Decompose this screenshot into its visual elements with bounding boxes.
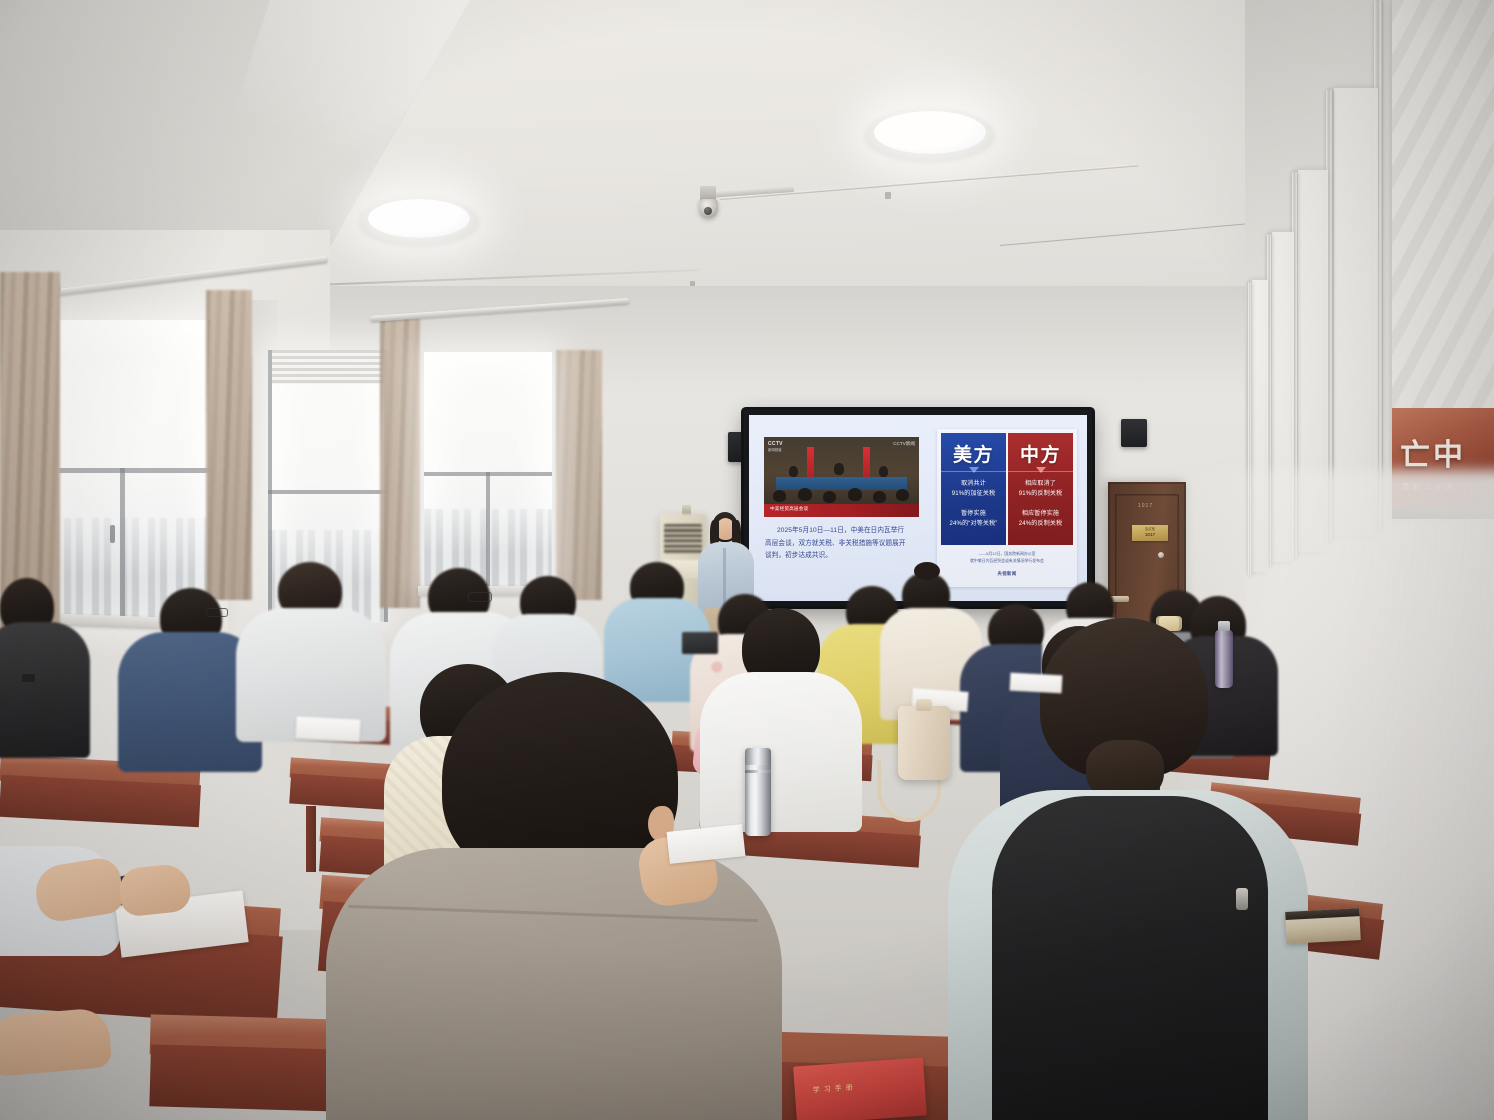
- curtain-mid: [206, 290, 252, 600]
- caption-line-1: 2025年5月10日—11日，中美在日内瓦举行: [777, 527, 904, 534]
- classroom-photo: CCTV 新闻频道 CCTV新闻 中美经贸高层会谈: [0, 0, 1494, 1120]
- red-booklet-text: 学习手册: [812, 1082, 857, 1095]
- door-nameplate: 会议室 1017: [1132, 525, 1168, 541]
- slide-caption: 2025年5月10日—11日，中美在日内瓦举行 高层会谈，双方就关税、非关税措施…: [765, 525, 961, 563]
- flag-icon: [807, 447, 814, 481]
- window-edge: [268, 350, 272, 622]
- camera-lens-icon: [704, 207, 712, 215]
- thermos-cap: [745, 748, 771, 765]
- curtain-far-right: [556, 350, 602, 600]
- footer-line-2: 就中美日内瓦经贸会谈有关情况举行发布会: [970, 558, 1044, 563]
- curtain-right: [380, 318, 420, 608]
- wristwatch-icon: [22, 674, 35, 682]
- window-blind: [272, 350, 384, 384]
- cn-line-3: 相应暂停实施: [1008, 510, 1073, 520]
- infographic-us-panel: 美方 取消共计 91%的加征关税 暂停实施 24%的“对等关税”: [941, 433, 1006, 545]
- handbag-handle: [916, 699, 932, 711]
- conduit-clip-1: [885, 192, 891, 199]
- podium-table: [776, 477, 906, 490]
- cn-title: 中方: [1008, 440, 1073, 467]
- ceiling-light-right: [874, 111, 986, 154]
- infographic-footer: ——5月12日，国务院新闻办公室 就中美日内瓦经贸会谈有关情况举行发布会: [943, 551, 1071, 565]
- desk-row2-left-leg: [306, 806, 316, 872]
- thermos-band: [745, 770, 771, 773]
- bottle-cap-icon: [1218, 621, 1230, 631]
- foreground-right-vest: [992, 796, 1268, 1120]
- audience-body-black-tee: [0, 622, 90, 758]
- us-line-3: 暂停实施: [941, 510, 1006, 520]
- audience-head: [823, 491, 836, 503]
- caption-line-2: 高层会谈，双方就关税、非关税措施等议题展开: [765, 540, 906, 547]
- ceiling-light-left: [368, 199, 470, 238]
- hair-bun-icon: [914, 562, 940, 580]
- window-handle[interactable]: [110, 525, 115, 543]
- window-mullion: [120, 468, 125, 620]
- audience-head: [873, 491, 886, 503]
- us-line-2: 91%的加征关税: [941, 490, 1006, 500]
- us-title: 美方: [941, 440, 1006, 467]
- news-band-text: 中美经贸高层会谈: [770, 506, 808, 512]
- infographic-divider-v: [1006, 471, 1007, 545]
- cn-line-4: 24%的反制关税: [1008, 520, 1073, 530]
- glasses-icon: [206, 608, 228, 617]
- panelist-head: [879, 466, 888, 477]
- cn-line-2: 91%的反制关税: [1008, 490, 1073, 500]
- foreground-hand-right: [118, 862, 193, 917]
- cctv-logo-sub: 新闻频道: [768, 447, 782, 452]
- poster-headline: 亡中: [1400, 430, 1466, 474]
- foreground-hand-bottom: [0, 1007, 112, 1077]
- infographic-brand: 央视新闻: [937, 571, 1077, 577]
- vest-zipper-pull-icon: [1236, 888, 1248, 910]
- door-plate-number: 1017: [1132, 532, 1168, 539]
- thermos-bottle[interactable]: [745, 748, 771, 836]
- news-lower-third: 中美经贸高层会谈: [764, 504, 919, 517]
- window-mullion: [486, 472, 490, 590]
- infographic-cn-panel: 中方 相应取消了 91%的反制关税 相应暂停实施 24%的反制关税: [1008, 433, 1073, 545]
- flag-icon: [863, 447, 870, 481]
- slide-news-photo: CCTV 新闻频道 CCTV新闻 中美经贸高层会谈: [764, 437, 919, 517]
- wall-panel-4: [1334, 88, 1378, 536]
- book-on-desk[interactable]: [1285, 908, 1361, 944]
- audience-head: [773, 490, 786, 502]
- audience-head: [798, 488, 812, 501]
- cn-line-1: 相应取消了: [1008, 480, 1073, 490]
- window-mullion: [268, 490, 388, 494]
- window-far: [424, 352, 552, 590]
- panelist-head: [834, 463, 844, 475]
- caption-line-3: 谈判，初步达成共识。: [765, 552, 832, 559]
- handbag[interactable]: [898, 706, 950, 780]
- footer-line-1: ——5月12日，国务院新闻办公室: [978, 551, 1035, 556]
- speaker-right: [1121, 419, 1147, 447]
- window-left: [36, 320, 212, 620]
- audience-body-white-blouse: [700, 672, 862, 832]
- laptop-device[interactable]: [682, 632, 718, 654]
- ac-vent-grill: [664, 524, 702, 554]
- paper-sheet-2: [295, 716, 360, 741]
- water-bottle[interactable]: [1215, 630, 1233, 688]
- paper-sheet-4: [1010, 673, 1063, 694]
- slide-infographic: 美方 取消共计 91%的加征关税 暂停实施 24%的“对等关税” 中方 相应取消…: [937, 429, 1077, 587]
- door-peephole-icon: [1158, 552, 1164, 558]
- audience-head: [848, 488, 862, 501]
- us-line-1: 取消共计: [941, 480, 1006, 490]
- panelist-head: [789, 466, 798, 477]
- us-line-4: 24%的“对等关税”: [941, 520, 1006, 530]
- red-booklet[interactable]: 学习手册: [793, 1058, 927, 1120]
- cctv-logo-right: CCTV新闻: [893, 441, 915, 447]
- door-number-top: 1017: [1138, 503, 1153, 509]
- audience-head: [896, 489, 909, 501]
- presenter-shirt-placket: [723, 548, 726, 608]
- glasses-icon: [468, 592, 492, 602]
